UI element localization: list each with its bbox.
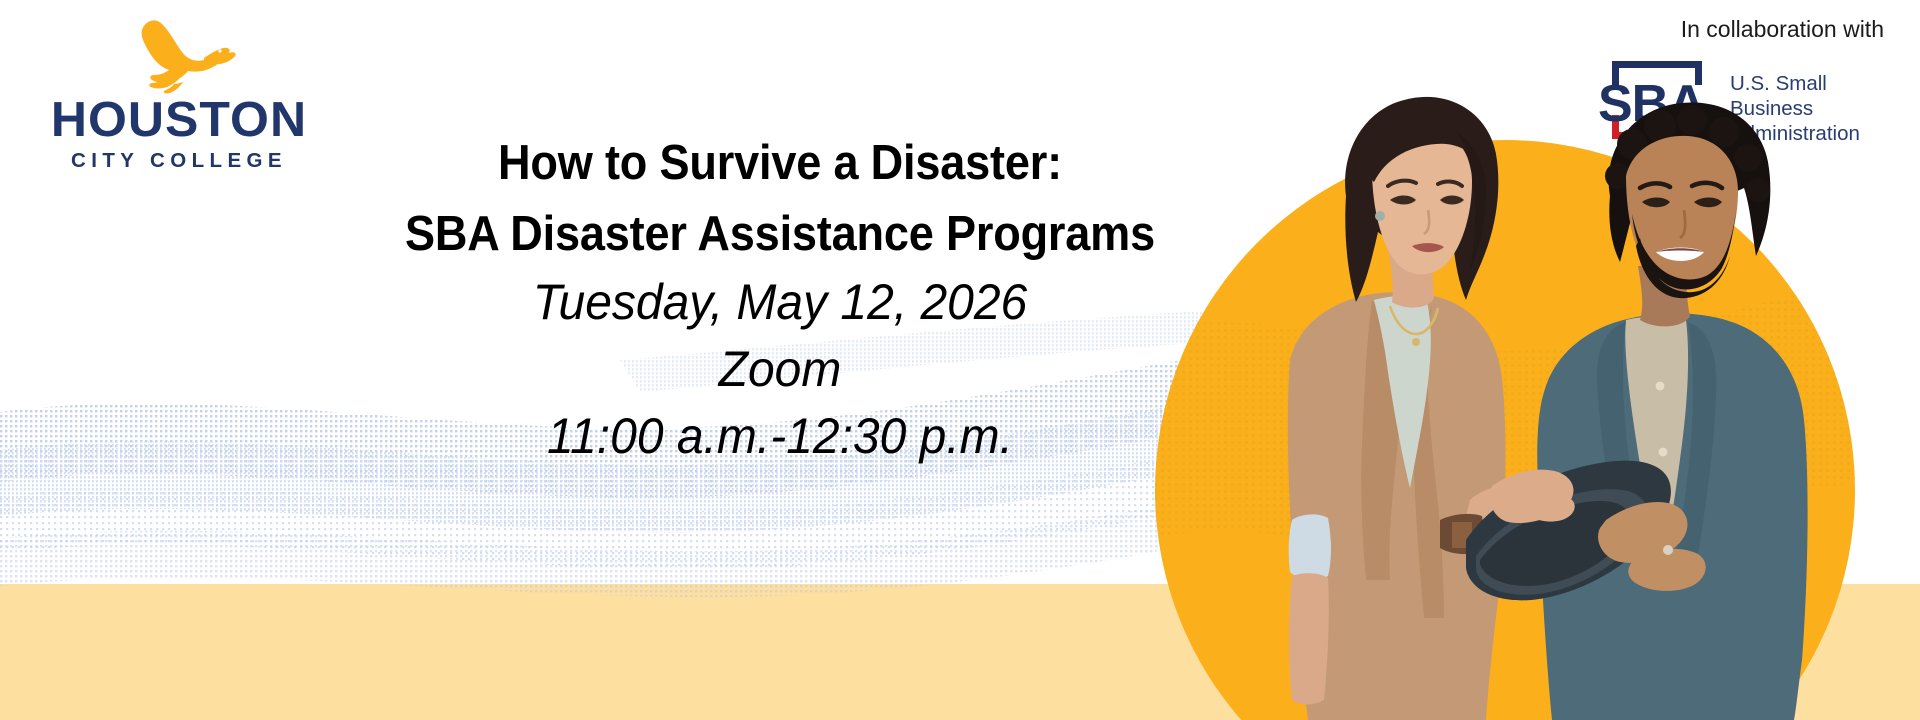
event-date: Tuesday, May 12, 2026 bbox=[271, 269, 1289, 336]
presenters-photo bbox=[1140, 0, 1920, 720]
event-time: 11:00 a.m.-12:30 p.m. bbox=[271, 403, 1289, 470]
event-title-line-1: How to Survive a Disaster: bbox=[292, 128, 1267, 199]
event-platform: Zoom bbox=[271, 336, 1289, 403]
event-banner: HOUSTON CITY COLLEGE In collaboration wi… bbox=[0, 0, 1920, 720]
eagle-icon bbox=[130, 18, 240, 98]
event-title-line-2: SBA Disaster Assistance Programs bbox=[292, 199, 1267, 270]
